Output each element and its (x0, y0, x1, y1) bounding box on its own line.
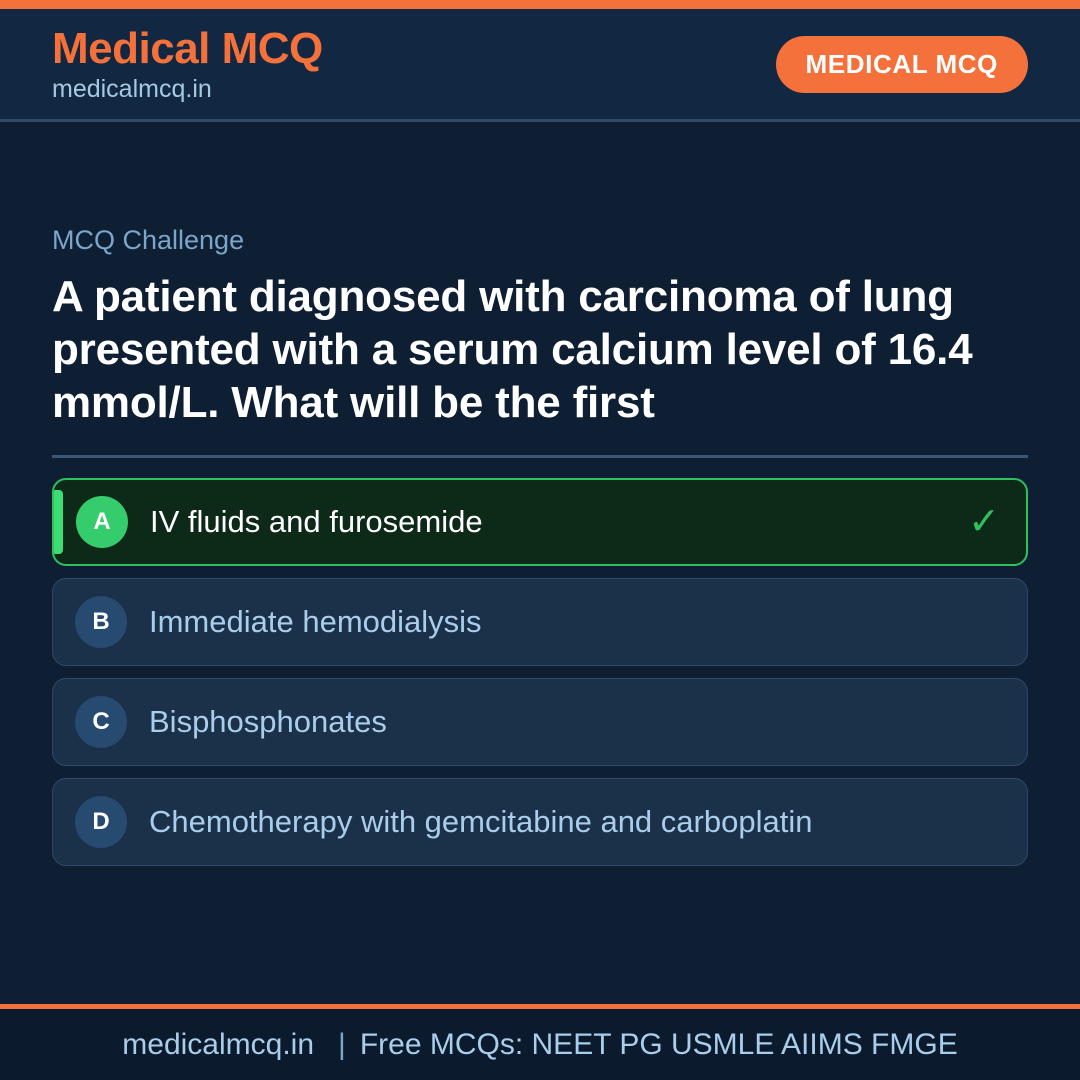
option-text-a: IV fluids and furosemide (150, 504, 964, 540)
footer-separator: | (324, 1028, 360, 1061)
option-letter-badge-b: B (75, 596, 127, 648)
question-divider (52, 455, 1028, 458)
footer-site[interactable]: medicalmcq.in (122, 1028, 324, 1061)
option-text-b: Immediate hemodialysis (149, 604, 965, 640)
footer-exams-label: Free MCQs: (360, 1028, 523, 1061)
options-list: A IV fluids and furosemide ✓ B Immediate… (52, 478, 1028, 866)
question-text: A patient diagnosed with carcinoma of lu… (52, 270, 1028, 430)
mcq-card: Medical MCQ medicalmcq.in MEDICAL MCQ MC… (0, 0, 1080, 1080)
option-letter-badge-a: A (76, 496, 128, 548)
footer-exams: NEET PG USMLE AIIMS FMGE (532, 1028, 958, 1061)
footer: medicalmcq.in|Free MCQs: NEET PG USMLE A… (0, 1004, 1080, 1080)
option-row-b[interactable]: B Immediate hemodialysis ✓ (52, 578, 1028, 666)
brand-badge: MEDICAL MCQ (776, 36, 1028, 93)
option-row-c[interactable]: C Bisphosphonates ✓ (52, 678, 1028, 766)
option-text-c: Bisphosphonates (149, 704, 965, 740)
footer-text: medicalmcq.in|Free MCQs: NEET PG USMLE A… (122, 1028, 957, 1062)
option-letter-badge-c: C (75, 696, 127, 748)
option-row-a[interactable]: A IV fluids and furosemide ✓ (52, 478, 1028, 566)
question-area: MCQ Challenge A patient diagnosed with c… (0, 122, 1080, 1004)
header: Medical MCQ medicalmcq.in MEDICAL MCQ (0, 9, 1080, 122)
option-text-d: Chemotherapy with gemcitabine and carbop… (149, 804, 965, 840)
brand: Medical MCQ medicalmcq.in (52, 27, 323, 102)
brand-title: Medical MCQ (52, 27, 323, 71)
option-letter-badge-d: D (75, 796, 127, 848)
option-row-d[interactable]: D Chemotherapy with gemcitabine and carb… (52, 778, 1028, 866)
eyebrow-label: MCQ Challenge (52, 226, 1028, 256)
top-accent-bar (0, 0, 1080, 9)
check-icon: ✓ (964, 503, 1004, 541)
brand-subtitle: medicalmcq.in (52, 77, 323, 102)
